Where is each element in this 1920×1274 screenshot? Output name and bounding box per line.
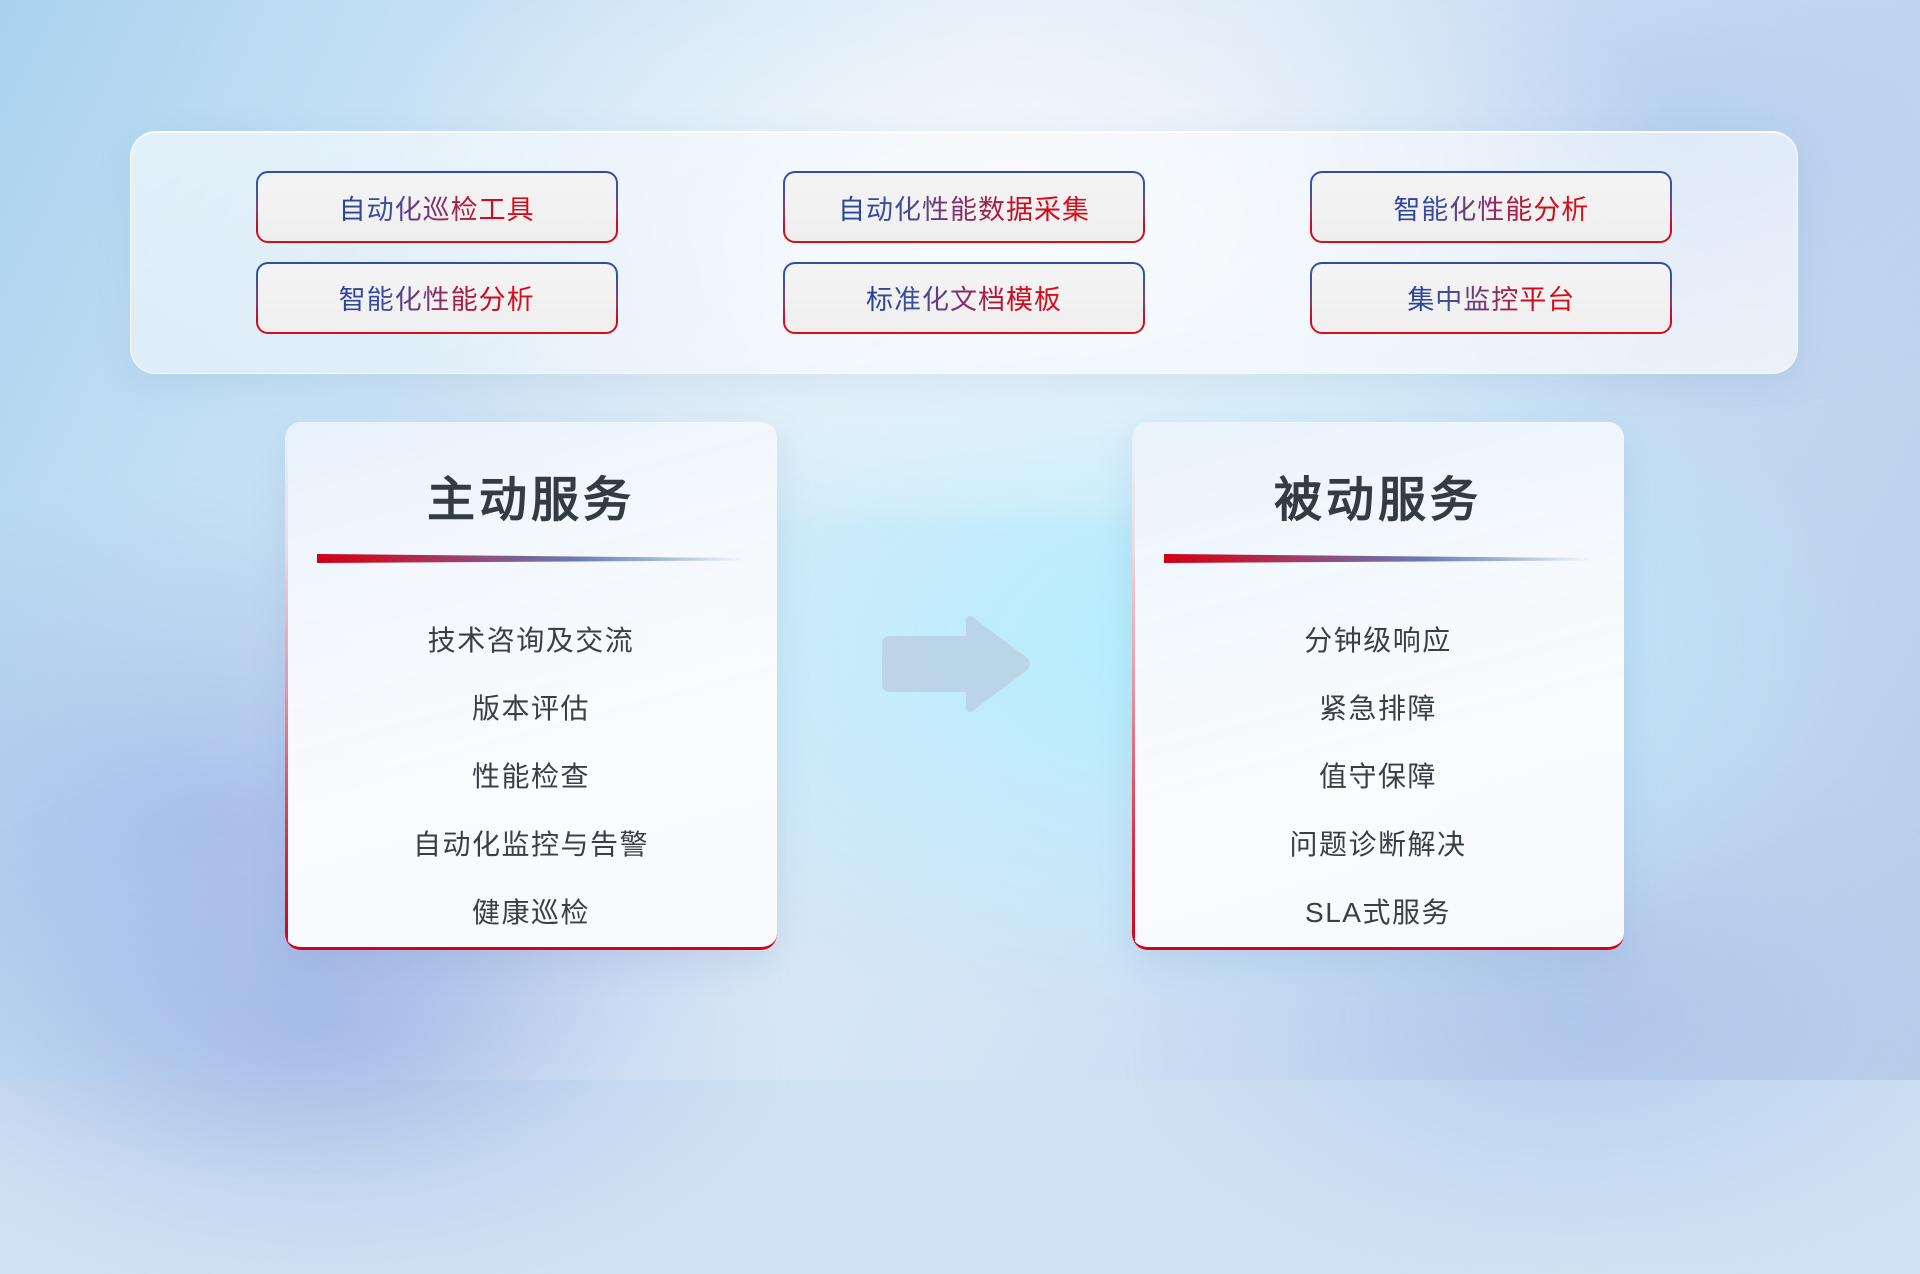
service-item-list: 分钟级响应 紧急排障 值守保障 问题诊断解决 SLA式服务 bbox=[1132, 563, 1624, 945]
service-item: 性能检查 bbox=[285, 741, 777, 809]
service-item-list: 技术咨询及交流 版本评估 性能检查 自动化监控与告警 健康巡检 bbox=[285, 563, 777, 945]
capability-tag-label: 标准化文档模板 bbox=[866, 278, 1062, 317]
capability-tag[interactable]: 自动化巡检工具 bbox=[258, 173, 616, 241]
capability-tag[interactable]: 自动化性能数据采集 bbox=[785, 173, 1143, 241]
capability-tag-label: 集中监控平台 bbox=[1407, 278, 1575, 317]
right-arrow-icon bbox=[874, 610, 1034, 718]
capability-tag-label: 智能化性能分析 bbox=[1393, 188, 1589, 227]
capability-tag[interactable]: 智能化性能分析 bbox=[258, 264, 616, 332]
service-card-reactive: 被动服务 分钟级响应 紧急排障 值守保障 问题诊断解决 SLA式服务 bbox=[1132, 422, 1624, 950]
service-item: 健康巡检 bbox=[285, 877, 777, 945]
service-item: 技术咨询及交流 bbox=[285, 605, 777, 673]
card-divider bbox=[317, 554, 745, 563]
capability-tag-label: 自动化性能数据采集 bbox=[838, 188, 1090, 227]
service-item: 紧急排障 bbox=[1132, 673, 1624, 741]
service-item: 分钟级响应 bbox=[1132, 605, 1624, 673]
service-item: 问题诊断解决 bbox=[1132, 809, 1624, 877]
capability-tag[interactable]: 标准化文档模板 bbox=[785, 264, 1143, 332]
service-card-proactive: 主动服务 技术咨询及交流 版本评估 性能检查 自动化监控与告警 健康巡检 bbox=[285, 422, 777, 950]
service-item: 值守保障 bbox=[1132, 741, 1624, 809]
capability-tags-panel: 自动化巡检工具 自动化性能数据采集 智能化性能分析 智能化性能分析 标准化文档模… bbox=[130, 131, 1798, 374]
capability-tag[interactable]: 集中监控平台 bbox=[1312, 264, 1670, 332]
service-card-title: 主动服务 bbox=[285, 422, 777, 530]
capability-tag[interactable]: 智能化性能分析 bbox=[1312, 173, 1670, 241]
diagram-stage: 自动化巡检工具 自动化性能数据采集 智能化性能分析 智能化性能分析 标准化文档模… bbox=[0, 0, 1920, 1080]
capability-tag-label: 智能化性能分析 bbox=[339, 278, 535, 317]
service-item: 自动化监控与告警 bbox=[285, 809, 777, 877]
card-divider bbox=[1164, 554, 1592, 563]
service-card-title: 被动服务 bbox=[1132, 422, 1624, 530]
service-item: 版本评估 bbox=[285, 673, 777, 741]
capability-tag-label: 自动化巡检工具 bbox=[339, 188, 535, 227]
service-item: SLA式服务 bbox=[1132, 877, 1624, 945]
